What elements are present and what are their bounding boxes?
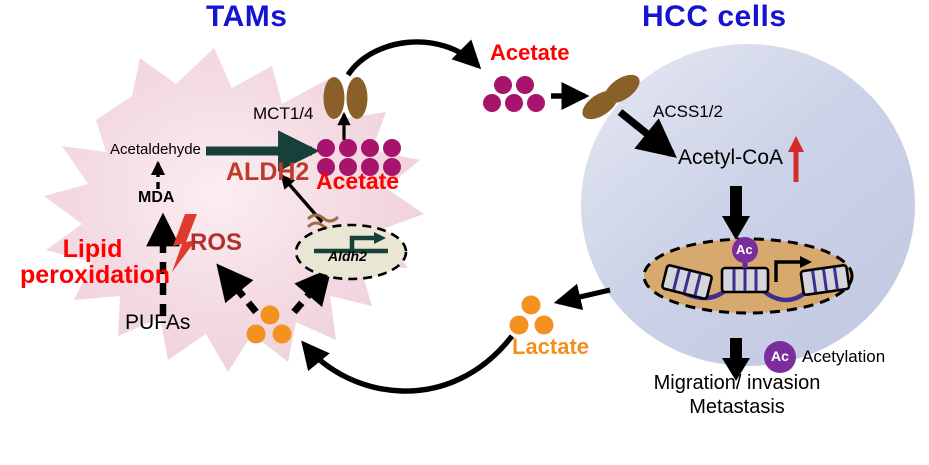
lactate-molecules-extracellular — [510, 296, 554, 335]
label-ros: ROS — [190, 231, 242, 255]
title-hcc-cells: HCC cells — [642, 2, 787, 32]
legend-acetylation-label: Acetylation — [802, 348, 885, 365]
lipid-line-2: peroxidation — [20, 262, 165, 288]
label-acetyl-coa: Acetyl-CoA — [678, 147, 783, 168]
outcome-line-1: Migration/ invasion — [636, 372, 838, 396]
label-aldh2: ALDH2 — [226, 160, 309, 185]
acetate-molecules-extracellular — [483, 76, 545, 112]
lipid-line-1: Lipid — [20, 236, 165, 262]
arrow-acetate-export — [348, 42, 478, 75]
mct-transporter-icon — [324, 77, 368, 119]
pathway-diagram: TAMs HCC cells Acetaldehyde MDA PUFAs MC… — [0, 0, 929, 465]
nucleosome-icon — [722, 268, 768, 292]
label-acetate-intracellular: Acetate — [316, 170, 399, 193]
label-mda: MDA — [138, 190, 174, 206]
label-pufas: PUFAs — [125, 312, 190, 333]
legend-badge-text: Ac — [771, 349, 789, 363]
label-acetate-extracellular: Acetate — [490, 42, 569, 64]
label-outcome: Migration/ invasion Metastasis — [636, 372, 838, 419]
nucleosome-icon — [801, 265, 850, 295]
label-lipid-peroxidation: Lipid peroxidation — [20, 236, 165, 288]
label-acetaldehyde: Acetaldehyde — [110, 142, 201, 157]
label-acss1-2: ACSS1/2 — [653, 103, 723, 120]
arrow-lactate-release — [558, 290, 610, 302]
label-mct1-4: MCT1/4 — [253, 105, 313, 122]
label-aldh2-gene: Aldh2 — [328, 249, 367, 263]
title-tams: TAMs — [206, 2, 287, 32]
label-lactate: Lactate — [512, 336, 589, 358]
outcome-line-2: Metastasis — [636, 396, 838, 420]
arrow-lactate-uptake — [304, 336, 512, 391]
nucleus-acetylation-label: Ac — [736, 243, 753, 256]
